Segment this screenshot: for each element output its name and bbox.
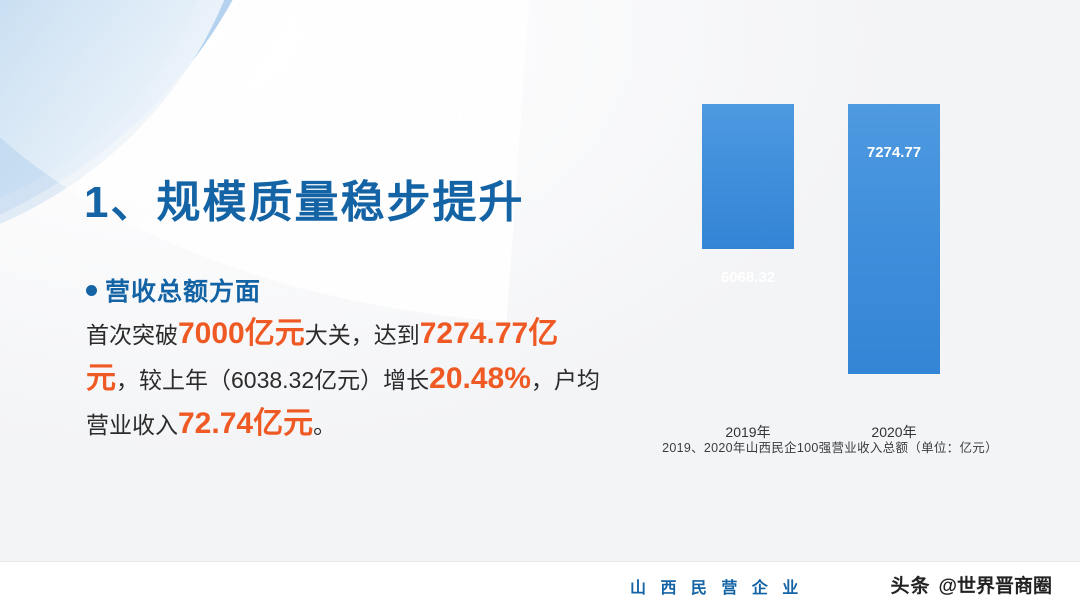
watermark-toutiao: 头条 @世界晋商圈 (890, 571, 1052, 598)
watermark-account: @世界晋商圈 (938, 571, 1052, 598)
bullet-dot-icon (86, 285, 97, 296)
bar-value-2019: 6068.32 (702, 269, 794, 286)
page-title: 1、规模质量稳步提升 (84, 166, 524, 230)
bar-chart-plot-area: 6068.32 2019年 7274.77 2020年 (620, 104, 1040, 404)
paragraph-seg-1: 首次突破 (86, 322, 178, 348)
bar-group-2020: 7274.77 2020年 (848, 104, 940, 404)
watermark-platform: 头条 (890, 571, 930, 598)
bar-chart: 6068.32 2019年 7274.77 2020年 2019、2020年山西… (620, 96, 1040, 456)
paragraph-seg-2: 大关，达到 (305, 322, 420, 348)
paragraph-highlight-4: 72.74亿元 (178, 407, 313, 440)
chart-caption: 2019、2020年山西民企100强营业收入总额（单位：亿元） (620, 437, 1040, 456)
footer-brand: 山 西 民 营 企 业 (630, 574, 803, 598)
bullet-heading: 营收总额方面 (86, 272, 261, 308)
bullet-heading-label: 营收总额方面 (105, 272, 261, 308)
paragraph-seg-5: 。 (313, 412, 336, 438)
bar-shadow-2019 (716, 314, 808, 404)
slide-canvas: 1、规模质量稳步提升 营收总额方面 首次突破7000亿元大关，达到7274.77… (0, 0, 1080, 606)
paragraph-highlight-1: 7000亿元 (178, 317, 305, 350)
body-paragraph: 首次突破7000亿元大关，达到7274.77亿元，较上年（6038.32亿元）增… (86, 312, 606, 447)
decor-white-sweep (0, 0, 532, 322)
bar-group-2019: 6068.32 2019年 (702, 104, 794, 404)
footer-brand-label: 山 西 民 营 企 业 (630, 574, 803, 598)
bar-value-2020: 7274.77 (848, 144, 940, 161)
bar-2019 (702, 104, 794, 249)
paragraph-highlight-3: 20.48% (429, 362, 531, 395)
paragraph-seg-3: ，较上年（6038.32亿元）增长 (116, 367, 429, 393)
